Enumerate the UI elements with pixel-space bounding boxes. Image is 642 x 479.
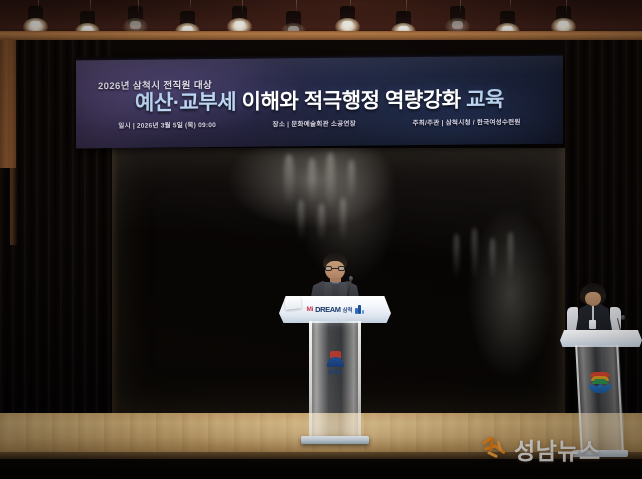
screen-reflection [326, 152, 335, 210]
screen-reflection [318, 204, 325, 242]
lighting-cable [90, 0, 91, 14]
side-podium [560, 330, 642, 458]
screen-reflection [472, 228, 477, 282]
screen-edge-left [112, 148, 119, 413]
lighting-cable [566, 0, 567, 14]
podium-logo-mi: Mi [306, 306, 313, 313]
banner-footer: 일시 | 2026년 3월 5일 (목) 09:00 장소 | 문화예술회관 소… [76, 116, 563, 131]
podium-column [309, 321, 361, 443]
orchestra-pit-shadow [0, 459, 642, 479]
city-emblem-icon: 삼척시 [321, 348, 349, 378]
main-podium: Mi DREAM 삼척 삼척시 [279, 296, 391, 446]
photo-canvas: 2026년 삼척시 전직원 대상 예산·교부세 이해와 적극행정 역량강화 교육… [0, 0, 642, 479]
lighting-cable [38, 0, 39, 9]
screen-reflection [348, 160, 355, 200]
side-microphone-icon [621, 315, 625, 320]
staff-face [585, 292, 601, 306]
podium-column-edge-left [309, 321, 312, 443]
screen-reflection [340, 198, 346, 242]
lighting-cable [190, 0, 191, 9]
podium-logo-dream: DREAM [315, 305, 341, 314]
lighting-cable [460, 0, 461, 14]
banner-title-part-2: 이해와 [242, 90, 299, 114]
city-emblem-label: 삼척시 [328, 368, 343, 376]
banner-title-part-3: 적극행정 역량강화 [304, 89, 461, 114]
screen-reflection [508, 232, 513, 282]
banner-supertitle: 2026년 삼척시 전직원 대상 [98, 77, 212, 92]
lanyard-icon [592, 306, 594, 321]
banner-footer-organizer: 주최/주관 | 삼척시청 / 한국여성수련원 [412, 116, 520, 127]
banner-footer-location: 장소 | 문화예술회관 소공연장 [273, 118, 356, 129]
wall-wood-trim-secondary [10, 40, 18, 245]
screen-reflection [284, 154, 294, 206]
lighting-cable [242, 0, 243, 14]
microphone-icon [349, 276, 353, 281]
lighting-cable [296, 0, 297, 14]
event-banner: 2026년 삼척시 전직원 대상 예산·교부세 이해와 적극행정 역량강화 교육… [76, 56, 563, 149]
banner-title: 예산·교부세 이해와 적극행정 역량강화 교육 [135, 89, 504, 115]
lighting-cable [138, 0, 139, 14]
lighting-cable [406, 0, 407, 14]
screen-reflection [490, 238, 495, 282]
podium-base [301, 436, 369, 444]
banner-footer-datetime: 일시 | 2026년 3월 5일 (목) 09:00 [118, 119, 216, 130]
screen-reflection [298, 200, 304, 242]
side-podium-base [572, 450, 628, 457]
screen-reflection [454, 234, 459, 280]
podium-brand-logo: Mi DREAM 삼척 [279, 303, 391, 316]
lighting-cable [350, 0, 351, 9]
banner-title-part-1: 예산·교부세 [135, 91, 236, 115]
podium-column-edge-right [358, 321, 361, 443]
id-badge-icon [589, 320, 596, 329]
screen-reflection [308, 158, 316, 204]
city-skyline-icon [355, 305, 364, 314]
banner-title-part-4: 교육 [466, 88, 504, 111]
rainbow-arc-logo-icon [587, 372, 613, 394]
lighting-cable [510, 0, 511, 9]
glasses-icon [325, 266, 345, 271]
podium-logo-korean: 삼척 [343, 306, 353, 314]
